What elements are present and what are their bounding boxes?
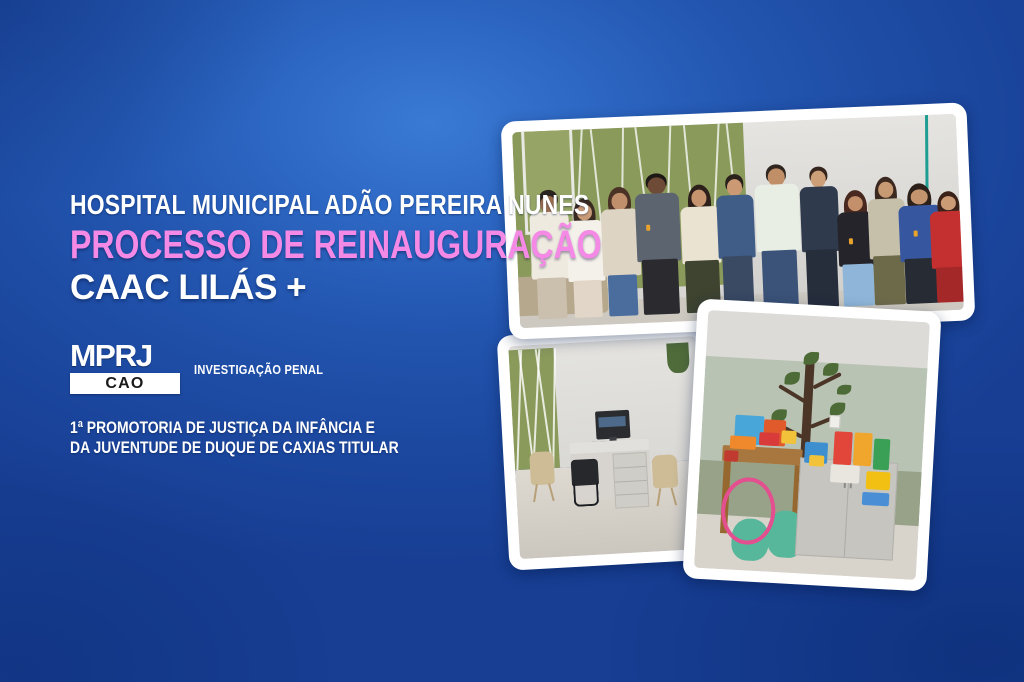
photo-playroom (682, 298, 941, 591)
headline-block: HOSPITAL MUNICIPAL ADÃO PEREIRA NUNES PR… (70, 190, 490, 308)
caption-line-2: DA JUVENTUDE DE DUQUE DE CAXIAS TITULAR (70, 438, 399, 458)
mprj-logo-block: MPRJ CAO (70, 340, 182, 394)
photo-group-image (512, 114, 964, 328)
poster-canvas: HOSPITAL MUNICIPAL ADÃO PEREIRA NUNES PR… (0, 0, 1024, 682)
footer-caption: 1ª PROMOTORIA DE JUSTIÇA DA INFÂNCIA E D… (70, 418, 399, 458)
photo-office-image (508, 336, 708, 559)
mprj-logo: MPRJ CAO INVESTIGAÇÃO PENAL (70, 340, 346, 394)
mprj-wordmark: MPRJ (70, 340, 184, 371)
caption-line-1: 1ª PROMOTORIA DE JUSTIÇA DA INFÂNCIA E (70, 418, 399, 438)
headline-line-3: CAAC LILÁS + (70, 268, 490, 308)
headline-line-1: HOSPITAL MUNICIPAL ADÃO PEREIRA NUNES (70, 190, 414, 220)
photo-playroom-image (694, 310, 930, 580)
cao-badge: CAO (70, 373, 180, 394)
cao-label: CAO (105, 376, 144, 392)
logo-tagline: INVESTIGAÇÃO PENAL (194, 363, 323, 376)
headline-line-2: PROCESSO DE REINAUGURAÇÃO (70, 222, 406, 268)
